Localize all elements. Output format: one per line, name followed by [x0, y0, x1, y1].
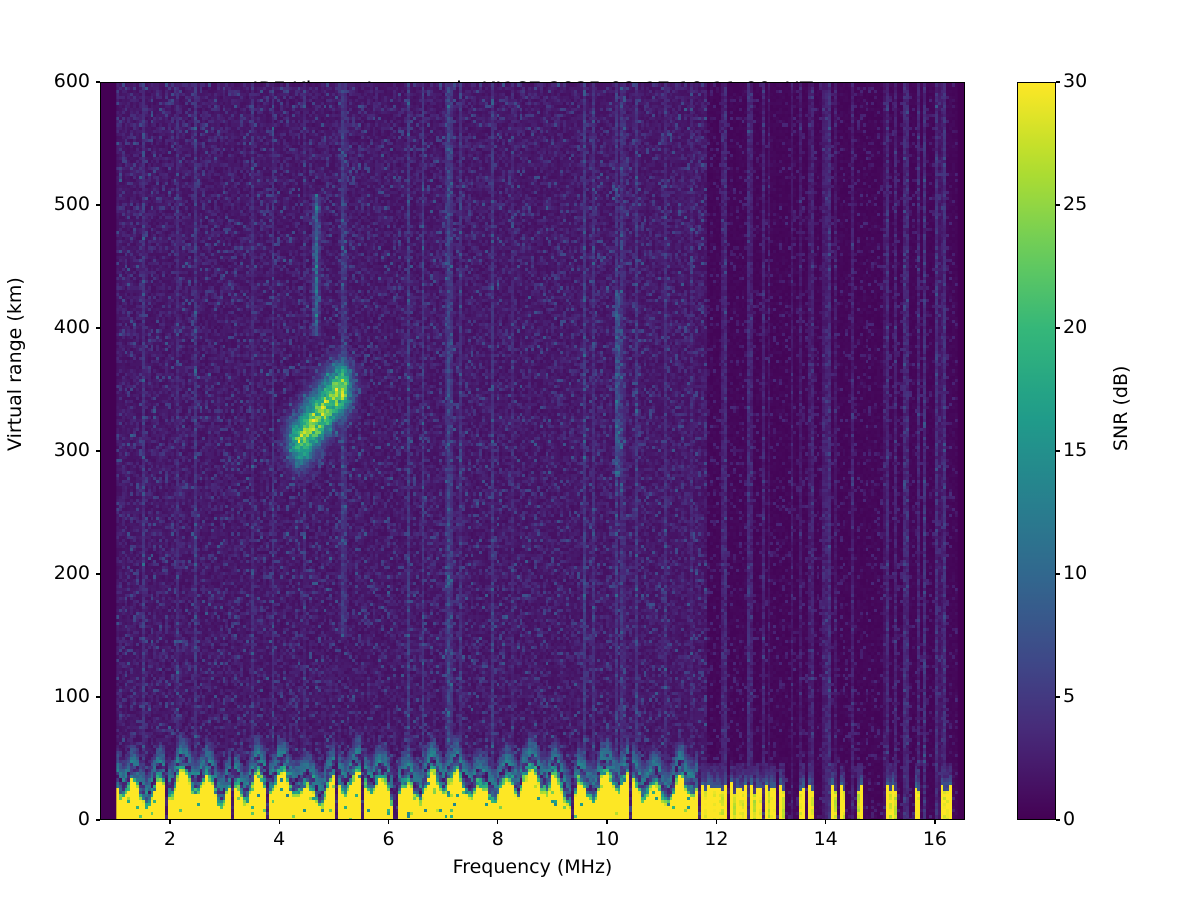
y-tick-label: 200: [6, 562, 90, 584]
y-tick-mark: [96, 696, 100, 697]
x-tick-mark: [169, 820, 170, 824]
x-tick-mark: [497, 820, 498, 824]
y-tick-label: 300: [6, 439, 90, 461]
x-tick-mark: [606, 820, 607, 824]
colorbar-tick-label: 0: [1063, 808, 1075, 830]
y-tick-mark: [96, 450, 100, 451]
x-tick-label: 12: [686, 828, 746, 850]
y-tick-label: 600: [6, 70, 90, 92]
colorbar[interactable]: [1017, 82, 1056, 820]
colorbar-tick-mark: [1056, 81, 1060, 82]
colorbar-tick-mark: [1056, 327, 1060, 328]
x-tick-label: 4: [249, 828, 309, 850]
y-tick-mark: [96, 204, 100, 205]
y-tick-mark: [96, 819, 100, 820]
x-tick-mark: [825, 820, 826, 824]
ionogram-figure: IRF Kiruna Ionosonde KI167 2025-09-17 10…: [0, 0, 1200, 900]
colorbar-tick-mark: [1056, 450, 1060, 451]
x-tick-label: 6: [359, 828, 419, 850]
colorbar-tick-mark: [1056, 573, 1060, 574]
x-tick-mark: [279, 820, 280, 824]
ionogram-heatmap: [101, 83, 965, 820]
x-tick-label: 8: [468, 828, 528, 850]
x-tick-label: 2: [140, 828, 200, 850]
y-tick-label: 0: [6, 808, 90, 830]
x-tick-label: 14: [796, 828, 856, 850]
x-tick-label: 10: [577, 828, 637, 850]
y-tick-mark: [96, 81, 100, 82]
colorbar-tick-label: 25: [1063, 193, 1087, 215]
plot-area[interactable]: [100, 82, 965, 820]
x-tick-label: 16: [905, 828, 965, 850]
colorbar-tick-mark: [1056, 819, 1060, 820]
y-tick-mark: [96, 573, 100, 574]
x-axis-label: Frequency (MHz): [100, 856, 965, 878]
x-tick-mark: [934, 820, 935, 824]
y-tick-label: 500: [6, 193, 90, 215]
colorbar-tick-label: 5: [1063, 685, 1075, 707]
x-tick-mark: [716, 820, 717, 824]
colorbar-label: SNR (dB): [1110, 366, 1132, 451]
y-axis-label: Virtual range (km): [4, 277, 26, 451]
colorbar-tick-label: 15: [1063, 439, 1087, 461]
y-tick-label: 400: [6, 316, 90, 338]
y-tick-label: 100: [6, 685, 90, 707]
colorbar-gradient: [1018, 83, 1055, 819]
x-tick-mark: [388, 820, 389, 824]
y-tick-mark: [96, 327, 100, 328]
colorbar-tick-label: 20: [1063, 316, 1087, 338]
colorbar-tick-mark: [1056, 696, 1060, 697]
colorbar-tick-label: 10: [1063, 562, 1087, 584]
colorbar-tick-mark: [1056, 204, 1060, 205]
colorbar-tick-label: 30: [1063, 70, 1087, 92]
